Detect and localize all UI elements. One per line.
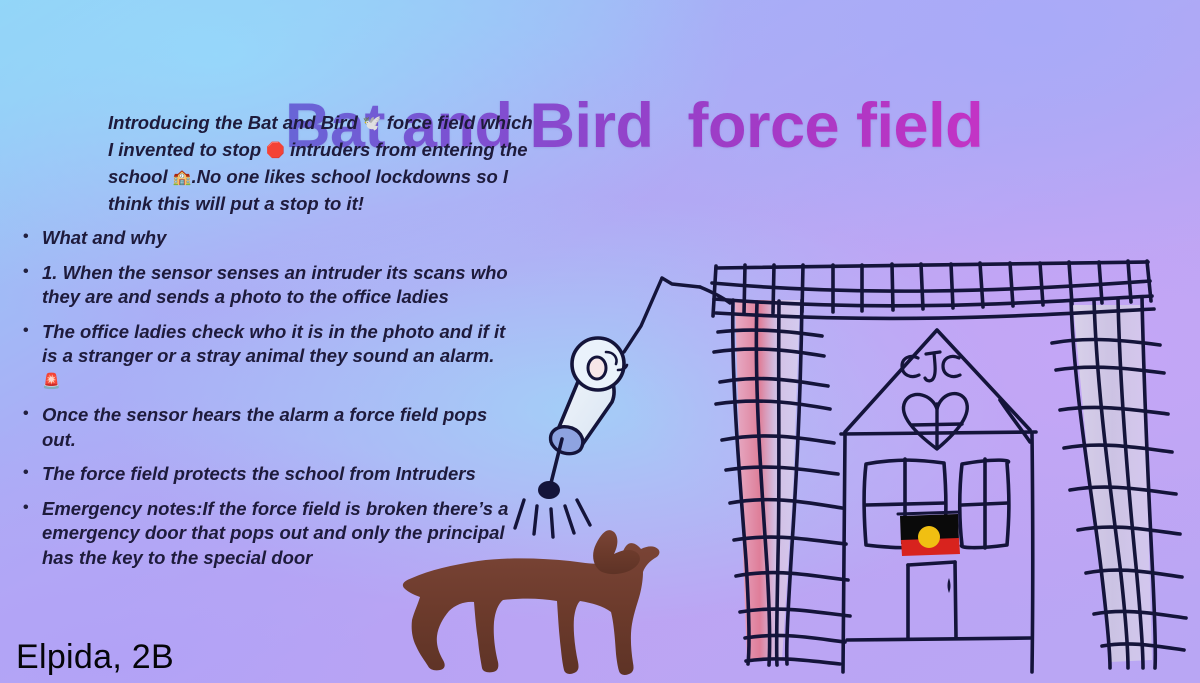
sensor-aperture xyxy=(551,427,583,454)
list-item: Emergency notes:If the force field is br… xyxy=(16,497,516,572)
stop-sign-emoji: 🛑 xyxy=(266,142,285,159)
security-sensor xyxy=(515,338,627,537)
force-field-canopy xyxy=(712,261,1154,318)
bullet-list: What and why 1. When the sensor senses a… xyxy=(16,226,516,580)
house-floor xyxy=(847,638,1031,640)
list-item: The force field protects the school from… xyxy=(16,462,516,488)
left-pillar-shade xyxy=(735,300,800,660)
sensor-light-rays xyxy=(515,500,590,537)
aboriginal-flag xyxy=(898,512,960,556)
bullet-text: The office ladies check who it is in the… xyxy=(42,321,505,367)
right-pillar-mesh xyxy=(1052,298,1186,668)
house-right-wall xyxy=(1032,434,1033,672)
sensor-cone xyxy=(552,360,614,452)
house-door xyxy=(908,562,956,638)
title-second-half: force field xyxy=(670,91,983,161)
list-item: 1. When the sensor senses an intruder it… xyxy=(16,261,516,311)
list-item: Once the sensor hears the alarm a force … xyxy=(16,403,516,453)
house-window-right xyxy=(960,459,1009,548)
presentation-slide: Bat and Bird force field xyxy=(0,0,1200,683)
intro-text-1: Introducing the Bat and Bird xyxy=(108,112,363,133)
bullet-text: 1. When the sensor senses an intruder it… xyxy=(42,262,508,308)
right-pillar-shade xyxy=(1073,305,1152,662)
school-house xyxy=(841,330,1036,672)
house-heart xyxy=(903,394,967,449)
intro-paragraph: Introducing the Bat and Bird 🕊️ force fi… xyxy=(108,110,533,217)
house-left-wall xyxy=(843,436,845,672)
house-cjc-label xyxy=(902,352,960,381)
house-window-left xyxy=(864,459,946,548)
alarm-emoji: 🚨 xyxy=(42,373,61,390)
bird-emoji: 🕊️ xyxy=(363,115,382,132)
author-caption: Elpida, 2B xyxy=(16,638,174,677)
bullet-text: Once the sensor hears the alarm a force … xyxy=(42,404,487,450)
house-eave xyxy=(841,432,1036,434)
list-item: The office ladies check who it is in the… xyxy=(16,320,516,395)
bullet-text: Emergency notes:If the force field is br… xyxy=(42,498,508,568)
list-item: What and why xyxy=(16,226,516,252)
wolf-head-detail xyxy=(593,530,640,574)
sensor-head xyxy=(572,338,624,390)
bullet-text: What and why xyxy=(42,227,166,248)
sensor-wire xyxy=(624,278,730,352)
bullet-text: The force field protects the school from… xyxy=(42,463,476,484)
left-pillar-mesh xyxy=(714,300,850,665)
sensor-lens xyxy=(588,357,606,379)
school-emoji: 🏫 xyxy=(173,169,192,186)
house-roof xyxy=(845,330,1030,432)
